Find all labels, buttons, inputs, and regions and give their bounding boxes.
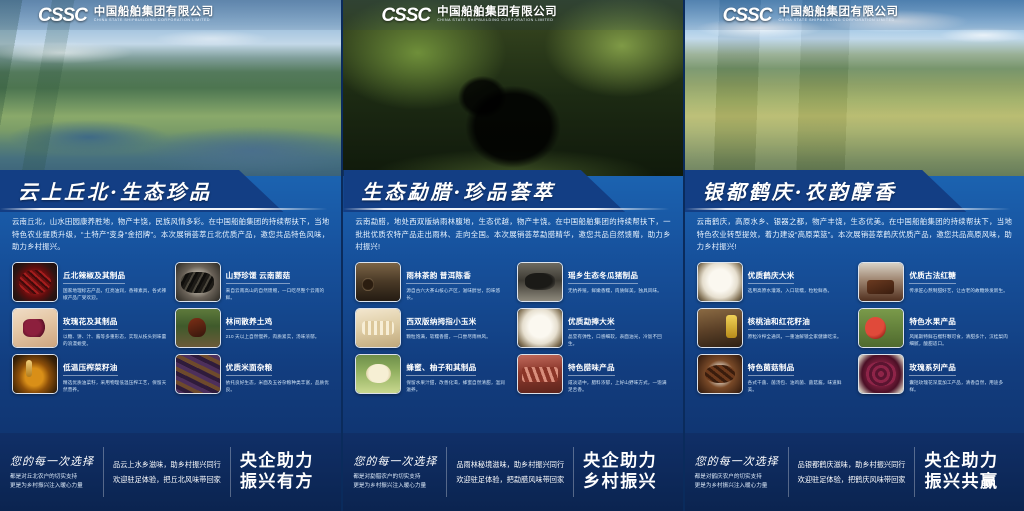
rice-thumb-icon bbox=[518, 309, 562, 347]
footer-big-line2: 振兴共赢 bbox=[924, 472, 998, 493]
panel-footer: 您的每一次选择 都是对鹤庆农户的切实支持 更是为乡村振兴注入暖心力量 品银都鹤庆… bbox=[685, 433, 1024, 511]
title-ribbon: 银都鹤庆·农韵醇香 bbox=[685, 170, 1024, 212]
rose-cake-thumb-icon bbox=[13, 309, 57, 347]
footer-brush-slogan: 您的每一次选择 bbox=[10, 453, 94, 469]
product-text: 低温压榨菜籽油 精选优质油菜籽，采用物理低温压榨工艺，保留天然营养。 bbox=[63, 354, 167, 393]
cured-meat-thumb-icon bbox=[518, 355, 562, 393]
footer-mid-line2: 欢迎驻足体验，把勐腊风味带回家 bbox=[456, 472, 564, 487]
product-title: 瑶乡生态冬瓜猪制品 bbox=[568, 270, 638, 284]
product-text: 优质勐捧大米 晶莹有弹性，口感细软，表面油光，冷饭不回生。 bbox=[568, 308, 671, 347]
brown-sugar-thumb-icon bbox=[859, 263, 903, 301]
footer-sub-line1: 都是对鹤庆农户的切实支持 bbox=[695, 473, 779, 482]
cssc-logo-text: 中国船舶集团有限公司 CHINA STATE SHIPBUILDING CORP… bbox=[778, 7, 898, 22]
footer-divider bbox=[573, 447, 574, 497]
product-text: 特色水果产品 风尾斯特鲜石榴籽颗可食，清甜多汁，汉桂梨肉细腻，酸甜适口。 bbox=[909, 308, 1012, 347]
fruit-thumb-icon bbox=[859, 309, 903, 347]
cssc-name-en: CHINA STATE SHIPBUILDING CORPORATION LIM… bbox=[94, 19, 214, 23]
footer-slogan-block: 您的每一次选择 都是对丘北农户的切实支持 更是为乡村振兴注入暖心力量 bbox=[10, 453, 94, 491]
footer-slogan-block: 您的每一次选择 都是对勐腊农户的切实支持 更是为乡村振兴注入暖心力量 bbox=[353, 453, 437, 491]
product-desc: 选用高原水灌溉，入口软糯，粒粒鲜香。 bbox=[748, 287, 833, 294]
footer-big-line1: 央企助力 bbox=[924, 451, 998, 472]
product-title: 玫瑰系列产品 bbox=[909, 362, 956, 376]
product-desc: 颗粒饱满，软糯香甜，一口尝尽雨林风。 bbox=[406, 333, 491, 340]
product-title: 优质米面杂粮 bbox=[226, 362, 273, 376]
product-card[interactable]: 雨林茶韵 普洱陈香 源自古六大茶山核心产区，滋味醇甘，韵味悠长。 bbox=[355, 262, 509, 302]
mushroom-thumb-icon bbox=[176, 263, 220, 301]
rice-thumb-icon bbox=[698, 263, 742, 301]
ribbon-underline bbox=[343, 208, 682, 210]
product-thumb bbox=[12, 354, 58, 394]
product-title: 玫瑰花及其制品 bbox=[63, 316, 118, 330]
product-text: 西双版纳拇指小玉米 颗粒饱满，软糯香甜，一口尝尽雨林风。 bbox=[406, 308, 491, 340]
footer-divider bbox=[446, 447, 447, 497]
logo-bar: CSSC 中国船舶集团有限公司 CHINA STATE SHIPBUILDING… bbox=[0, 0, 341, 30]
panel-qiubei: CSSC 中国船舶集团有限公司 CHINA STATE SHIPBUILDING… bbox=[0, 0, 341, 511]
panel-title: 银都鹤庆·农韵醇香 bbox=[703, 176, 897, 205]
product-text: 雨林茶韵 普洱陈香 源自古六大茶山核心产区，滋味醇甘，韵味悠长。 bbox=[406, 262, 509, 301]
product-text: 特色腊味产品 咸淡适中，腊料浓郁，上好山野味方式，一饱满足舌香。 bbox=[568, 354, 671, 393]
product-desc: 210 天以上自然慢养，肉质紧实，汤味浓郁。 bbox=[226, 333, 320, 340]
footer-headline-block: 央企助力 振兴有方 bbox=[240, 451, 314, 492]
product-desc: 咸淡适中，腊料浓郁，上好山野味方式，一饱满足舌香。 bbox=[568, 379, 671, 393]
product-card[interactable]: 山野珍馐 云南菌菇 来自云南高山的自然馈赠，一口吃尽整个云南的鲜。 bbox=[175, 262, 330, 302]
panel-body: 云南勐腊，地处西双版纳雨林腹地，生态优越，物产丰饶。在中国船舶集团的持续帮扶下，… bbox=[343, 212, 682, 433]
cssc-logo-mark: CSSC bbox=[723, 6, 772, 25]
product-title: 雨林茶韵 普洱陈香 bbox=[406, 270, 471, 284]
product-title: 林间散养土鸡 bbox=[226, 316, 273, 330]
footer-divider bbox=[103, 447, 104, 497]
panel-body: 云南鹤庆，高原水乡、银器之都，物产丰饶，生态优美。在中国船舶集团的持续帮扶下，当… bbox=[685, 212, 1024, 433]
product-thumb bbox=[697, 354, 743, 394]
product-title: 特色腊味产品 bbox=[568, 362, 615, 376]
product-card[interactable]: 优质鹤庆大米 选用高原水灌溉，入口软糯，粒粒鲜香。 bbox=[697, 262, 851, 302]
product-thumb bbox=[12, 308, 58, 348]
product-desc: 源自古六大茶山核心产区，滋味醇甘，韵味悠长。 bbox=[406, 287, 509, 301]
product-card[interactable]: 优质古法红糖 传承匠心熬制甜好艺，让古老的故糖焕发新生。 bbox=[858, 262, 1012, 302]
panel-title: 生态勐腊·珍品荟萃 bbox=[361, 176, 555, 205]
product-card[interactable]: 优质米面杂粮 依托良好生态，米面及五谷杂粮种类丰富，品质优良。 bbox=[175, 354, 330, 394]
footer-divider bbox=[914, 447, 915, 497]
product-title: 优质古法红糖 bbox=[909, 270, 956, 284]
walnut-oil-thumb-icon bbox=[698, 309, 742, 347]
product-desc: 来自云南高山的自然馈赠，一口吃尽整个云南的鲜。 bbox=[226, 287, 330, 301]
product-text: 瑶乡生态冬瓜猪制品 无抗养殖，鲜嫩香糯，肉质鲜美，独具风味。 bbox=[568, 262, 662, 294]
product-desc: 精选优质油菜籽，采用物理低温压榨工艺，保留天然营养。 bbox=[63, 379, 167, 393]
intro-paragraph: 云南鹤庆，高原水乡、银器之都，物产丰饶，生态优美。在中国船舶集团的持续帮扶下，当… bbox=[697, 216, 1012, 254]
footer-invite-block: 品银都鹤庆滋味，助乡村振兴同行 欢迎驻足体验，把鹤庆风味带回家 bbox=[798, 457, 906, 487]
product-title: 低温压榨菜籽油 bbox=[63, 362, 118, 376]
chili-thumb-icon bbox=[13, 263, 57, 301]
footer-sub-line1: 都是对丘北农户的切实支持 bbox=[10, 473, 94, 482]
product-card[interactable]: 西双版纳拇指小玉米 颗粒饱满，软糯香甜，一口尝尽雨林风。 bbox=[355, 308, 509, 348]
logo-bar: CSSC 中国船舶集团有限公司 CHINA STATE SHIPBUILDING… bbox=[343, 0, 682, 30]
intro-paragraph: 云南丘北，山水田园康养胜地，物产丰饶，民族风情多彩。在中国船舶集团的持续帮扶下，… bbox=[12, 216, 329, 254]
product-text: 优质古法红糖 传承匠心熬制甜好艺，让古老的故糖焕发新生。 bbox=[909, 262, 1008, 294]
ribbon-underline bbox=[685, 208, 1024, 210]
product-title: 蜂蜜、柚子和其制品 bbox=[406, 362, 476, 376]
product-desc: 依托良好生态，米面及五谷杂粮种类丰富，品质优良。 bbox=[226, 379, 330, 393]
panel-body: 云南丘北，山水田园康养胜地，物产丰饶，民族风情多彩。在中国船舶集团的持续帮扶下，… bbox=[0, 212, 341, 433]
product-title: 优质鹤庆大米 bbox=[748, 270, 795, 284]
product-title: 特色水果产品 bbox=[909, 316, 956, 330]
pork-thumb-icon bbox=[518, 263, 562, 301]
honey-pomelo-thumb-icon bbox=[356, 355, 400, 393]
product-desc: 各式干菌、菌汤包、油鸡菌、菌菇酱，味道鲜美。 bbox=[748, 379, 851, 393]
footer-big-line2: 乡村振兴 bbox=[583, 472, 657, 493]
product-thumb bbox=[175, 262, 221, 302]
footer-sub-line2: 更是为乡村振兴注入暖心力量 bbox=[353, 482, 437, 491]
product-card[interactable]: 丘北辣椒及其制品 国家地理标志产品，红亮油润，香辣素具，各式辣椒产品广受欢迎。 bbox=[12, 262, 167, 302]
product-thumb bbox=[175, 308, 221, 348]
product-card[interactable]: 特色水果产品 风尾斯特鲜石榴籽颗可食，清甜多汁，汉桂梨肉细腻，酸甜适口。 bbox=[858, 308, 1012, 348]
footer-mid-line1: 品银都鹤庆滋味，助乡村振兴同行 bbox=[798, 457, 906, 472]
footer-mid-line2: 欢迎驻足体验，把鹤庆风味带回家 bbox=[798, 472, 906, 487]
product-desc: 囊括玫瑰花深度加工产品，清香自然，用途多样。 bbox=[909, 379, 1012, 393]
cssc-name-en: CHINA STATE SHIPBUILDING CORPORATION LIM… bbox=[437, 19, 557, 23]
cssc-name-en: CHINA STATE SHIPBUILDING CORPORATION LIM… bbox=[778, 19, 898, 23]
product-thumb bbox=[858, 354, 904, 394]
product-thumb bbox=[858, 262, 904, 302]
footer-sub-line2: 更是为乡村振兴注入暖心力量 bbox=[10, 482, 94, 491]
logo-bar: CSSC 中国船舶集团有限公司 CHINA STATE SHIPBUILDING… bbox=[685, 0, 1024, 30]
product-text: 山野珍馐 云南菌菇 来自云南高山的自然馈赠，一口吃尽整个云南的鲜。 bbox=[226, 262, 330, 301]
product-desc: 保﻿留水果汁甜，改善化渴，蜂蜜自然清甜，温润滋养。 bbox=[406, 379, 509, 393]
product-card[interactable]: 特色腊味产品 咸淡适中，腊料浓郁，上好山野味方式，一饱满足舌香。 bbox=[517, 354, 671, 394]
footer-headline-block: 央企助力 振兴共赢 bbox=[924, 451, 998, 492]
product-text: 优质鹤庆大米 选用高原水灌溉，入口软糯，粒粒鲜香。 bbox=[748, 262, 833, 294]
poster-board: CSSC 中国船舶集团有限公司 CHINA STATE SHIPBUILDING… bbox=[0, 0, 1024, 511]
footer-mid-line2: 欢迎驻足体验，把丘北风味带回家 bbox=[113, 472, 221, 487]
fungus-thumb-icon bbox=[698, 355, 742, 393]
panel-title: 云上丘北·生态珍品 bbox=[18, 176, 212, 205]
product-desc: 风尾斯特鲜石榴籽颗可食，清甜多汁，汉桂梨肉细腻，酸甜适口。 bbox=[909, 333, 1012, 347]
product-title: 核桃油和红花籽油 bbox=[748, 316, 810, 330]
product-text: 优质米面杂粮 依托良好生态，米面及五谷杂粮种类丰富，品质优良。 bbox=[226, 354, 330, 393]
footer-mid-line1: 品云上水乡滋味，助乡村振兴同行 bbox=[113, 457, 221, 472]
product-thumb bbox=[858, 308, 904, 348]
product-desc: 传承匠心熬制甜好艺，让古老的故糖焕发新生。 bbox=[909, 287, 1008, 294]
product-grid: 雨林茶韵 普洱陈香 源自古六大茶山核心产区，滋味醇甘，韵味悠长。 瑶乡生态冬瓜猪… bbox=[355, 262, 670, 394]
product-text: 丘北辣椒及其制品 国家地理标志产品，红亮油润，香辣素具，各式辣椒产品广受欢迎。 bbox=[63, 262, 167, 301]
footer-sub-line1: 都是对勐腊农户的切实支持 bbox=[353, 473, 437, 482]
corn-thumb-icon bbox=[356, 309, 400, 347]
product-text: 玫瑰系列产品 囊括玫瑰花深度加工产品，清香自然，用途多样。 bbox=[909, 354, 1012, 393]
footer-headline-block: 央企助力 乡村振兴 bbox=[583, 451, 657, 492]
product-title: 山野珍馐 云南菌菇 bbox=[226, 270, 291, 284]
product-text: 特色菌菇制品 各式干菌、菌汤包、油鸡菌、菌菇酱，味道鲜美。 bbox=[748, 354, 851, 393]
product-title: 优质勐捧大米 bbox=[568, 316, 615, 330]
footer-slogan-block: 您的每一次选择 都是对鹤庆农户的切实支持 更是为乡村振兴注入暖心力量 bbox=[695, 453, 779, 491]
footer-brush-slogan: 您的每一次选择 bbox=[353, 453, 437, 469]
panel-footer: 您的每一次选择 都是对丘北农户的切实支持 更是为乡村振兴注入暖心力量 品云上水乡… bbox=[0, 433, 341, 511]
cssc-logo-text: 中国船舶集团有限公司 CHINA STATE SHIPBUILDING CORP… bbox=[437, 7, 557, 22]
product-thumb bbox=[12, 262, 58, 302]
product-desc: 国家地理标志产品，红亮油润，香辣素具，各式辣椒产品广受欢迎。 bbox=[63, 287, 167, 301]
product-text: 玫瑰花及其制品 以糖、饼、汁、酱等多重形态，实现从枝头到味蕾的浪漫蜕变。 bbox=[63, 308, 167, 347]
ribbon-underline bbox=[0, 208, 341, 210]
product-card[interactable]: 瑶乡生态冬瓜猪制品 无抗养殖，鲜嫩香糯，肉质鲜美，独具风味。 bbox=[517, 262, 671, 302]
product-thumb bbox=[517, 262, 563, 302]
product-card[interactable]: 玫瑰系列产品 囊括玫瑰花深度加工产品，清香自然，用途多样。 bbox=[858, 354, 1012, 394]
product-title: 西双版纳拇指小玉米 bbox=[406, 316, 476, 330]
panel-mengla: CSSC 中国船舶集团有限公司 CHINA STATE SHIPBUILDING… bbox=[341, 0, 682, 511]
panel-footer: 您的每一次选择 都是对勐腊农户的切实支持 更是为乡村振兴注入暖心力量 品雨林秘境… bbox=[343, 433, 682, 511]
cssc-logo-mark: CSSC bbox=[381, 6, 430, 25]
product-card[interactable]: 核桃油和红花籽油 原粒冷榨全通风，一重油解锁全家健康吃法。 bbox=[697, 308, 851, 348]
product-text: 核桃油和红花籽油 原粒冷榨全通风，一重油解锁全家健康吃法。 bbox=[748, 308, 842, 340]
footer-invite-block: 品云上水乡滋味，助乡村振兴同行 欢迎驻足体验，把丘北风味带回家 bbox=[113, 457, 221, 487]
footer-big-line1: 央企助力 bbox=[240, 451, 314, 472]
title-ribbon: 生态勐腊·珍品荟萃 bbox=[343, 170, 682, 212]
product-title: 特色菌菇制品 bbox=[748, 362, 795, 376]
footer-big-line1: 央企助力 bbox=[583, 451, 657, 472]
product-grid: 丘北辣椒及其制品 国家地理标志产品，红亮油润，香辣素具，各式辣椒产品广受欢迎。 … bbox=[12, 262, 329, 394]
product-card[interactable]: 特色菌菇制品 各式干菌、菌汤包、油鸡菌、菌菇酱，味道鲜美。 bbox=[697, 354, 851, 394]
product-desc: 无抗养殖，鲜嫩香糯，肉质鲜美，独具风味。 bbox=[568, 287, 662, 294]
puer-tea-thumb-icon bbox=[356, 263, 400, 301]
product-thumb bbox=[355, 354, 401, 394]
product-thumb bbox=[517, 308, 563, 348]
hero-photo-qiubei: CSSC 中国船舶集团有限公司 CHINA STATE SHIPBUILDING… bbox=[0, 0, 341, 176]
product-thumb bbox=[355, 308, 401, 348]
footer-mid-line1: 品雨林秘境滋味，助乡村振兴同行 bbox=[456, 457, 564, 472]
oil-thumb-icon bbox=[13, 355, 57, 393]
cssc-logo-mark: CSSC bbox=[38, 6, 87, 25]
product-desc: 晶莹有弹性，口感细软，表面油光，冷饭不回生。 bbox=[568, 333, 671, 347]
footer-brush-slogan: 您的每一次选择 bbox=[695, 453, 779, 469]
product-card[interactable]: 低温压榨菜籽油 精选优质油菜籽，采用物理低温压榨工艺，保留天然营养。 bbox=[12, 354, 167, 394]
product-thumb bbox=[355, 262, 401, 302]
rose-products-thumb-icon bbox=[859, 355, 903, 393]
footer-sub-line2: 更是为乡村振兴注入暖心力量 bbox=[695, 482, 779, 491]
product-desc: 原粒冷榨全通风，一重油解锁全家健康吃法。 bbox=[748, 333, 842, 340]
product-text: 蜂蜜、柚子和其制品 保﻿留水果汁甜，改善化渴，蜂蜜自然清甜，温润滋养。 bbox=[406, 354, 509, 393]
product-card[interactable]: 优质勐捧大米 晶莹有弹性，口感细软，表面油光，冷饭不回生。 bbox=[517, 308, 671, 348]
product-card[interactable]: 林间散养土鸡 210 天以上自然慢养，肉质紧实，汤味浓郁。 bbox=[175, 308, 330, 348]
product-card[interactable]: 玫瑰花及其制品 以糖、饼、汁、酱等多重形态，实现从枝头到味蕾的浪漫蜕变。 bbox=[12, 308, 167, 348]
chicken-thumb-icon bbox=[176, 309, 220, 347]
product-desc: 以糖、饼、汁、酱等多重形态，实现从枝头到味蕾的浪漫蜕变。 bbox=[63, 333, 167, 347]
product-card[interactable]: 蜂蜜、柚子和其制品 保﻿留水果汁甜，改善化渴，蜂蜜自然清甜，温润滋养。 bbox=[355, 354, 509, 394]
product-thumb bbox=[697, 308, 743, 348]
hero-photo-heqing: CSSC 中国船舶集团有限公司 CHINA STATE SHIPBUILDING… bbox=[685, 0, 1024, 176]
title-ribbon: 云上丘北·生态珍品 bbox=[0, 170, 341, 212]
cssc-logo-text: 中国船舶集团有限公司 CHINA STATE SHIPBUILDING CORP… bbox=[94, 7, 214, 22]
product-thumb bbox=[517, 354, 563, 394]
footer-big-line2: 振兴有方 bbox=[240, 472, 314, 493]
panel-heqing: CSSC 中国船舶集团有限公司 CHINA STATE SHIPBUILDING… bbox=[683, 0, 1024, 511]
product-grid: 优质鹤庆大米 选用高原水灌溉，入口软糯，粒粒鲜香。 优质古法红糖 传承匠心熬制甜… bbox=[697, 262, 1012, 394]
product-title: 丘北辣椒及其制品 bbox=[63, 270, 125, 284]
footer-divider bbox=[788, 447, 789, 497]
grain-thumb-icon bbox=[176, 355, 220, 393]
intro-paragraph: 云南勐腊，地处西双版纳雨林腹地，生态优越，物产丰饶。在中国船舶集团的持续帮扶下，… bbox=[355, 216, 670, 254]
product-text: 林间散养土鸡 210 天以上自然慢养，肉质紧实，汤味浓郁。 bbox=[226, 308, 320, 340]
hero-photo-mengla: CSSC 中国船舶集团有限公司 CHINA STATE SHIPBUILDING… bbox=[343, 0, 682, 176]
product-thumb bbox=[697, 262, 743, 302]
footer-divider bbox=[230, 447, 231, 497]
footer-invite-block: 品雨林秘境滋味，助乡村振兴同行 欢迎驻足体验，把勐腊风味带回家 bbox=[456, 457, 564, 487]
product-thumb bbox=[175, 354, 221, 394]
